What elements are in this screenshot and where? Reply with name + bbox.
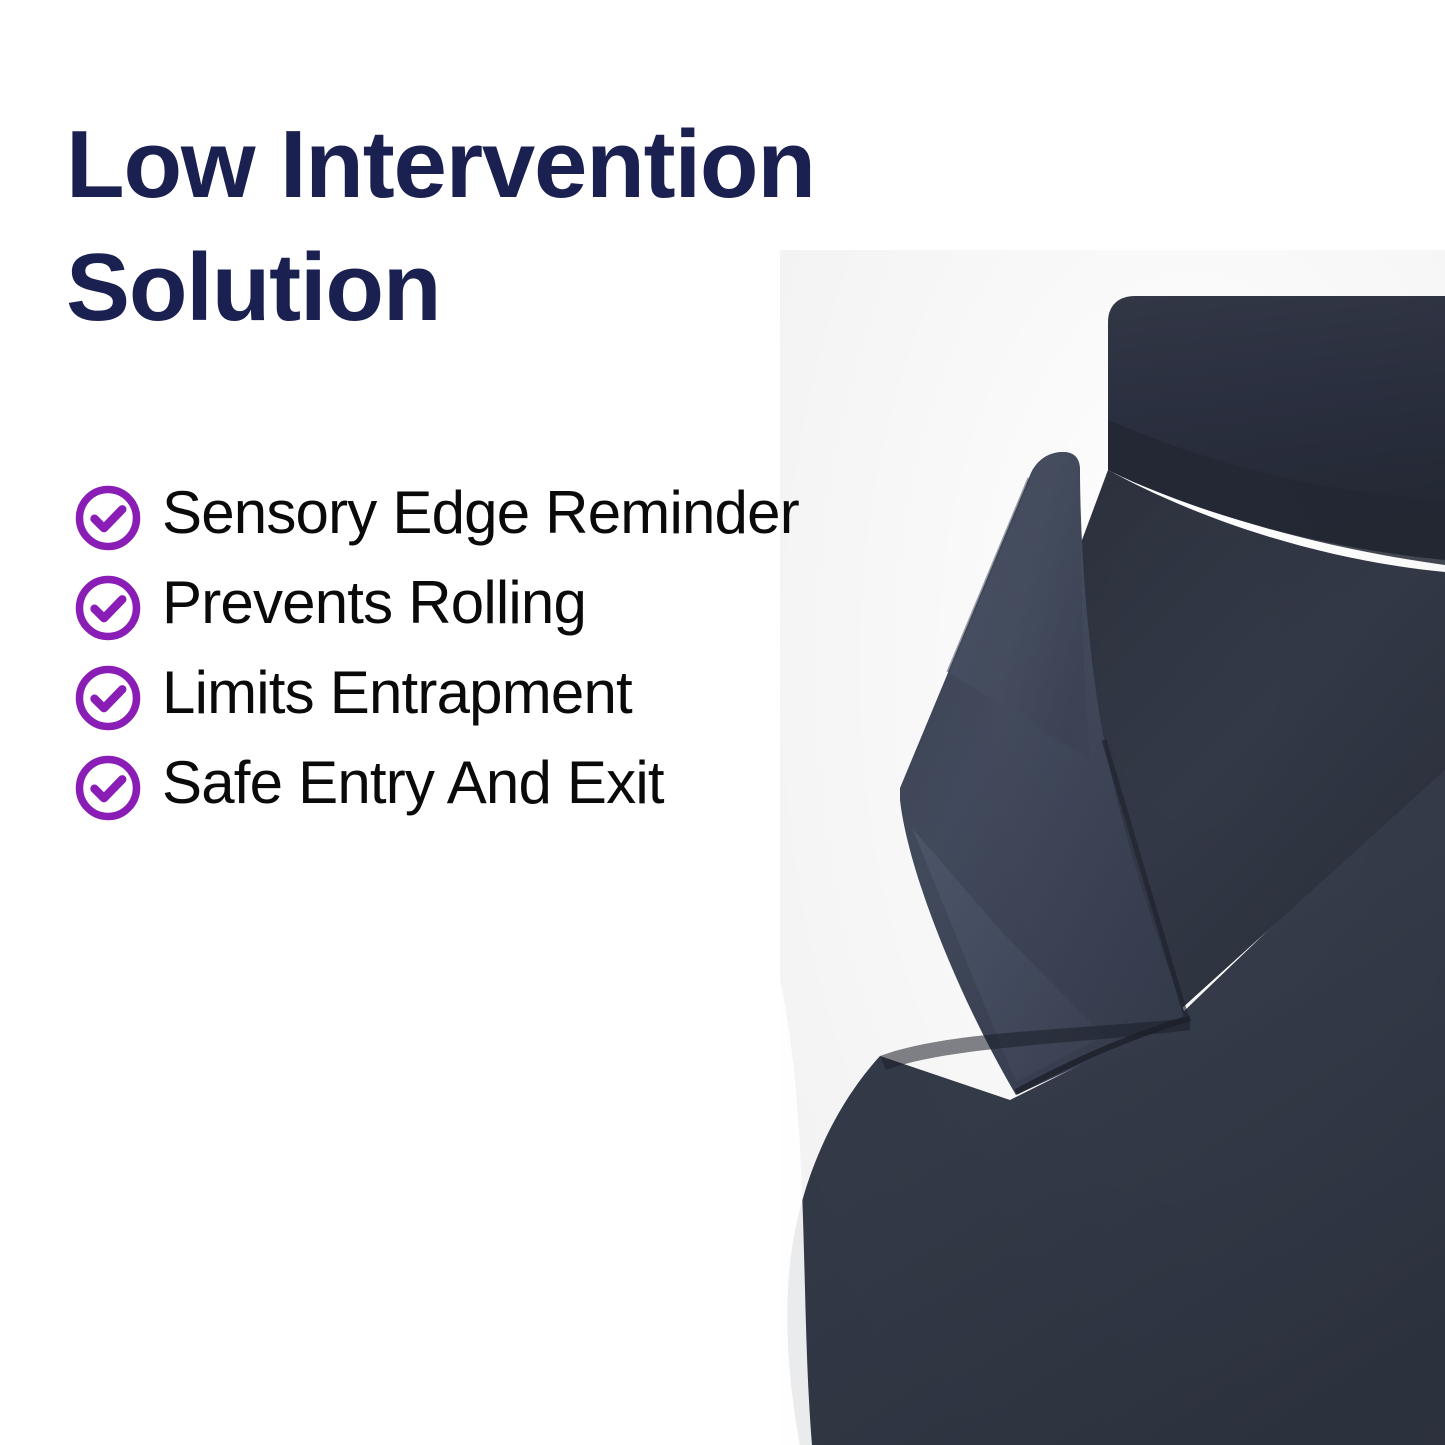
check-circle-icon <box>72 752 144 824</box>
head-bolster <box>1108 296 1445 560</box>
list-item-label: Sensory Edge Reminder <box>162 478 799 546</box>
sleep-surface <box>1030 470 1445 1010</box>
photo-left-fade <box>760 980 812 1445</box>
photo-vignette <box>780 250 1445 1445</box>
seam-vertical <box>1104 740 1186 1016</box>
mattress-base <box>787 760 1445 1445</box>
list-item-label: Limits Entrapment <box>162 658 632 726</box>
check-circle-icon <box>72 572 144 644</box>
list-item-label: Safe Entry And Exit <box>162 748 664 816</box>
check-circle-icon <box>72 662 144 734</box>
page-title: Low Intervention Solution <box>66 104 966 350</box>
side-bolster-highlight <box>948 452 1090 760</box>
list-item: Limits Entrapment <box>72 658 892 730</box>
list-item: Prevents Rolling <box>72 568 892 640</box>
head-bolster-shadow <box>1108 420 1445 565</box>
list-item-label: Prevents Rolling <box>162 568 586 636</box>
seam-bottom <box>1016 1018 1190 1092</box>
base-crease <box>880 1018 1190 1070</box>
product-feature-card: Low Intervention Solution Sensory Edge R… <box>0 0 1445 1445</box>
corner-fold <box>912 828 1104 1082</box>
feature-list: Sensory Edge Reminder Prevents Rolling L… <box>72 478 892 838</box>
list-item: Sensory Edge Reminder <box>72 478 892 550</box>
check-circle-icon <box>72 482 144 554</box>
seam-top-facet <box>948 478 1029 672</box>
side-bolster <box>900 452 1186 1095</box>
list-item: Safe Entry And Exit <box>72 748 892 820</box>
